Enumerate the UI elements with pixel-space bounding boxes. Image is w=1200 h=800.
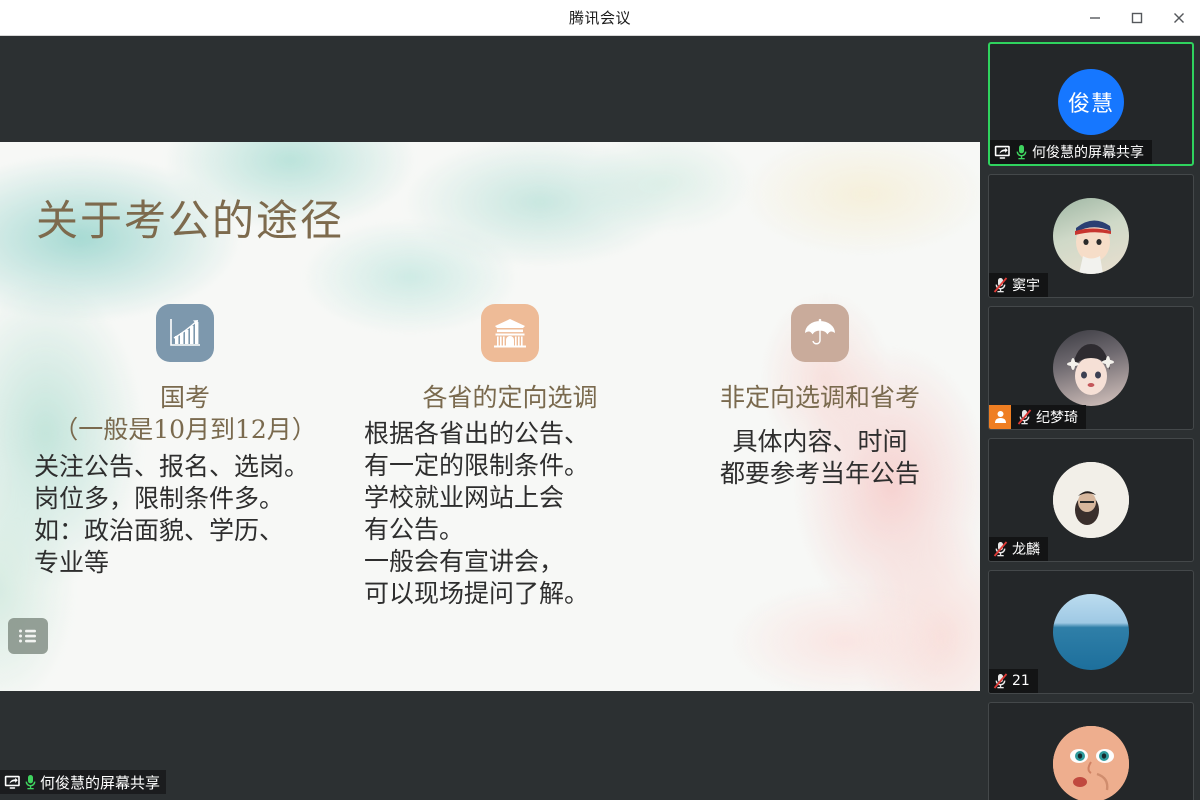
maximize-button[interactable] — [1116, 0, 1158, 36]
bar-chart-growth-icon — [156, 304, 214, 362]
avatar: 俊慧 — [1058, 69, 1124, 135]
share-status-bar: 何俊慧的屏幕共享 — [0, 770, 166, 794]
shared-screen-stage[interactable]: 关于考公的途径 — [0, 36, 980, 800]
window-title: 腾讯会议 — [569, 7, 631, 28]
share-status-label: 何俊慧的屏幕共享 — [40, 772, 160, 793]
avatar — [1053, 726, 1129, 800]
body-line: 有公告。 — [364, 514, 664, 546]
slide-column-dingxiang: 各省的定向选调 根据各省出的公告、 有一定的限制条件。 学校就业网站上会 有公告… — [350, 304, 670, 610]
participant-name: 龙麟 — [1012, 539, 1040, 559]
avatar — [1053, 330, 1129, 406]
slide-column-feidingxiang: 非定向选调和省考 具体内容、时间 都要参考当年公告 — [670, 304, 970, 610]
slide-title: 关于考公的途径 — [36, 187, 344, 248]
participant-name: 窦宇 — [1012, 275, 1040, 295]
avatar-initials: 俊慧 — [1068, 86, 1114, 118]
temple-gate-icon — [481, 304, 539, 362]
title-bar: 腾讯会议 — [0, 0, 1200, 36]
column-heading: 国考 — [26, 382, 344, 414]
participant-tile[interactable]: 徐婧 — [988, 702, 1194, 800]
participant-name: 21 — [1012, 673, 1030, 689]
column-body: 关注公告、报名、选岗。 岗位多，限制条件多。 如：政治面貌、学历、 专业等 — [26, 451, 344, 579]
microphone-muted-icon — [1017, 409, 1032, 425]
close-button[interactable] — [1158, 0, 1200, 36]
microphone-on-icon — [1015, 144, 1028, 160]
participant-tile[interactable]: 窦宇 — [988, 174, 1194, 298]
participant-name: 何俊慧的屏幕共享 — [1032, 142, 1144, 162]
umbrella-icon — [791, 304, 849, 362]
participant-tile[interactable]: 21 — [988, 570, 1194, 694]
body-line: 一般会有宣讲会， — [364, 546, 664, 578]
avatar — [1053, 198, 1129, 274]
column-subheading: （一般是10月到12月） — [26, 414, 344, 447]
avatar-image — [1053, 726, 1129, 800]
body-line: 有一定的限制条件。 — [364, 450, 664, 482]
participant-tile[interactable]: 纪梦琦 — [988, 306, 1194, 430]
body-line: 专业等 — [34, 547, 344, 579]
slide-list-menu-button[interactable] — [8, 618, 48, 654]
microphone-muted-icon — [993, 541, 1008, 557]
list-menu-icon — [18, 628, 38, 644]
avatar-image — [1053, 462, 1129, 538]
minimize-button[interactable] — [1074, 0, 1116, 36]
participant-name: 纪梦琦 — [1036, 407, 1078, 427]
participant-footer: 21 — [989, 669, 1038, 693]
meeting-body: 关于考公的途径 — [0, 36, 1200, 800]
slide-column-guokao: 国考 （一般是10月到12月） 关注公告、报名、选岗。 岗位多，限制条件多。 如… — [20, 304, 350, 610]
participant-tile[interactable]: 龙麟 — [988, 438, 1194, 562]
participants-rail[interactable]: 俊慧 何俊慧的屏幕共享 — [980, 36, 1200, 800]
participant-footer: 窦宇 — [989, 273, 1048, 297]
avatar — [1053, 594, 1129, 670]
slide-content: 关于考公的途径 — [0, 142, 980, 691]
body-line: 如：政治面貌、学历、 — [34, 515, 344, 547]
body-line: 学校就业网站上会 — [364, 482, 664, 514]
body-line: 关注公告、报名、选岗。 — [34, 451, 344, 483]
participant-footer: 纪梦琦 — [989, 405, 1086, 429]
microphone-muted-icon — [993, 277, 1008, 293]
body-line: 都要参考当年公告 — [676, 458, 964, 490]
column-body: 具体内容、时间 都要参考当年公告 — [676, 426, 964, 490]
participant-footer: 何俊慧的屏幕共享 — [990, 140, 1152, 164]
avatar-image — [1053, 330, 1129, 406]
avatar-image — [1053, 594, 1129, 670]
body-line: 根据各省出的公告、 — [364, 418, 664, 450]
column-heading: 各省的定向选调 — [356, 382, 664, 414]
window-controls — [1074, 0, 1200, 36]
avatar — [1053, 462, 1129, 538]
avatar-image — [1053, 198, 1129, 274]
microphone-on-icon — [24, 774, 37, 790]
participant-footer: 龙麟 — [989, 537, 1048, 561]
presentation-slide: 关于考公的途径 — [0, 142, 980, 691]
body-line: 可以现场提问了解。 — [364, 578, 664, 610]
host-person-icon — [989, 405, 1011, 429]
participant-tile-screen-share[interactable]: 俊慧 何俊慧的屏幕共享 — [988, 42, 1194, 166]
column-heading: 非定向选调和省考 — [676, 382, 964, 414]
screen-share-icon — [994, 145, 1011, 160]
body-line: 具体内容、时间 — [676, 426, 964, 458]
column-body: 根据各省出的公告、 有一定的限制条件。 学校就业网站上会 有公告。 一般会有宣讲… — [356, 418, 664, 610]
slide-columns: 国考 （一般是10月到12月） 关注公告、报名、选岗。 岗位多，限制条件多。 如… — [0, 304, 980, 610]
microphone-muted-icon — [993, 673, 1008, 689]
body-line: 岗位多，限制条件多。 — [34, 483, 344, 515]
tencent-meeting-window: 腾讯会议 关于考公的途径 — [0, 0, 1200, 800]
screen-share-icon — [4, 775, 21, 790]
